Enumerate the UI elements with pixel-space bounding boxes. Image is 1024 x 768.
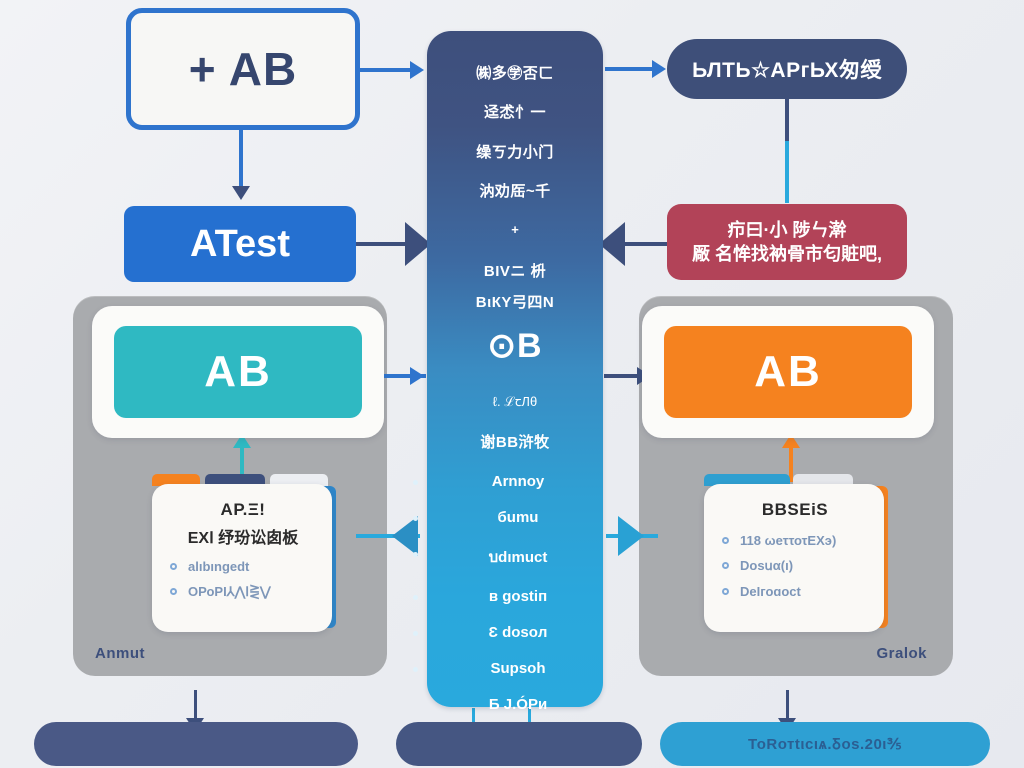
center-bullet-item[interactable]: бumu <box>437 509 593 526</box>
detail-card-left[interactable]: АР.Ξ! ЕХⅠ 纾玢讼囱板 alıbıngedt ОРоРΙ⅄⋀Ⅰ⋛⋁ <box>152 484 332 632</box>
bullet-dot-icon <box>413 631 418 636</box>
center-bullet-item[interactable]: บdımuct <box>437 545 593 569</box>
detail-card-right-title: ВBSЕiS <box>720 500 870 520</box>
group-panel-left-label: Anmut <box>95 645 145 662</box>
node-plus-ab-label: + AB <box>189 42 297 96</box>
node-plus-ab[interactable]: + AB <box>126 8 360 130</box>
ring-bullet-icon <box>722 537 729 544</box>
node-crimson-line-1: 疖曰·小 陟ㄣ澣 <box>728 218 847 242</box>
center-bullet-label: Б J.ÓРи <box>489 696 547 713</box>
chip-orange-label: AB <box>754 347 822 397</box>
detail-card-right-list: 118 ωеττοτЕХэ) Dоѕսα(ı) DеΙгоɑоct <box>720 534 870 599</box>
arrowhead-teal-to-center <box>410 367 424 385</box>
chevron-to-detail-left <box>392 516 418 556</box>
list-item[interactable]: 118 ωеττοτЕХэ) <box>720 534 870 548</box>
detail-card-left-title: АР.Ξ! <box>168 500 318 520</box>
bottom-bar-left[interactable] <box>34 722 358 766</box>
connector-pill-to-crimson-lower <box>785 141 789 203</box>
detail-card-left-list: alıbıngedt ОРоРΙ⅄⋀Ⅰ⋛⋁ <box>168 560 318 600</box>
chip-teal[interactable]: AB <box>114 326 362 418</box>
detail-card-right[interactable]: ВBSЕiS 118 ωеττοτЕХэ) Dоѕսα(ı) DеΙгоɑоct <box>704 484 884 632</box>
center-headline: ⊙В <box>437 326 593 366</box>
node-atest-label: ATest <box>190 223 290 266</box>
ring-bullet-icon <box>170 588 177 595</box>
bullet-dot-icon <box>413 516 418 521</box>
bullet-dot-icon <box>413 667 418 672</box>
bullet-dot-icon <box>413 595 418 600</box>
bottom-bar-right[interactable]: ТоRотtιcιѧ.Ᵹоѕ.20ι⅗ <box>660 722 990 766</box>
list-item-label: Dоѕսα(ı) <box>740 558 793 573</box>
center-bullet-label: Аrnnoy <box>492 473 545 490</box>
chip-teal-label: AB <box>204 347 272 397</box>
center-line-1: ㈱多㊫否ㄈ <box>437 65 593 82</box>
center-line-4: 汭劝厒~千 <box>437 183 593 200</box>
node-atest[interactable]: ATest <box>124 206 356 282</box>
ring-bullet-icon <box>722 588 729 595</box>
center-bullet-item[interactable]: ʙ gostiп <box>437 588 593 605</box>
center-bullet-item[interactable]: Б J.ÓРи <box>437 696 593 713</box>
arrowhead-plusab-to-atest <box>232 186 250 200</box>
chevron-to-detail-right <box>618 516 644 556</box>
ring-bullet-icon <box>722 562 729 569</box>
list-item[interactable]: DеΙгоɑоct <box>720 585 870 599</box>
center-bullet-label: ʙ gostiп <box>489 588 547 605</box>
center-bullet-list: Аrnnoy бumu บdımuct ʙ gostiп Ɛ dosoл Sup… <box>437 473 593 713</box>
card-teal-ab[interactable]: AB <box>92 306 384 438</box>
center-subheading: 谢ВВ浒牧 <box>437 434 593 451</box>
center-line-3: 缲ㄎ力小门 <box>437 144 593 161</box>
connector-plusab-to-atest <box>239 130 243 188</box>
diagram-canvas: Anmut Gralok ㈱多㊫否ㄈ 迳怸忄一 <box>0 0 1024 768</box>
detail-card-left-subtitle: ЕХⅠ 纾玢讼囱板 <box>168 524 318 548</box>
list-item-label: ОРоРΙ⅄⋀Ⅰ⋛⋁ <box>188 584 271 599</box>
list-item-label: alıbıngedt <box>188 559 249 574</box>
list-item-label: DеΙгоɑоct <box>740 584 801 599</box>
center-bullet-item[interactable]: Ɛ dosoл <box>437 624 593 641</box>
group-panel-right-label: Gralok <box>876 645 927 662</box>
bullet-dot-icon <box>413 480 418 485</box>
list-item[interactable]: ОРоРΙ⅄⋀Ⅰ⋛⋁ <box>168 585 318 599</box>
arrowhead-center-to-api-pill <box>652 60 666 78</box>
center-bullet-label: Supsoh <box>491 660 546 677</box>
connector-plusab-to-center <box>360 68 412 72</box>
center-mid-line-1: ВIVニ 枡 <box>437 263 593 280</box>
center-bullet-label: бumu <box>498 509 539 526</box>
bottom-bar-right-label: ТоRотtιcιѧ.Ᵹоѕ.20ι⅗ <box>748 734 902 754</box>
connector-center-to-api-pill <box>605 67 655 71</box>
center-bullet-label: Ɛ dosoл <box>489 624 548 641</box>
center-plus-symbol: + <box>437 222 593 237</box>
node-api-pill[interactable]: ЬЛTЬ☆АРгЬХ匆绶 <box>667 39 907 99</box>
node-crimson-warning[interactable]: 疖曰·小 陟ㄣ澣 厰 名恈找衲骨市匂賍吧, <box>667 204 907 280</box>
list-item[interactable]: Dоѕսα(ı) <box>720 559 870 573</box>
list-item-label: 118 ωеττοτЕХэ) <box>740 533 836 548</box>
node-crimson-line-2: 厰 名恈找衲骨市匂賍吧, <box>692 242 882 266</box>
center-process-column[interactable]: ㈱多㊫否ㄈ 迳怸忄一 缲ㄎ力小门 汭劝厒~千 + ВIVニ 枡 ВιКΥ弓四Ν … <box>427 31 603 707</box>
list-item[interactable]: alıbıngedt <box>168 560 318 574</box>
center-bullet-label: บdımuct <box>489 549 548 566</box>
card-orange-ab[interactable]: AB <box>642 306 934 438</box>
connector-pill-to-crimson <box>785 99 789 141</box>
center-small-note: ℓ. ℒꞇЛθ <box>437 392 593 410</box>
center-mid-line-2: ВιКΥ弓四Ν <box>437 294 593 311</box>
chip-orange[interactable]: AB <box>664 326 912 418</box>
ring-bullet-icon <box>170 563 177 570</box>
node-api-pill-label: ЬЛTЬ☆АРгЬХ匆绶 <box>692 54 882 84</box>
arrowhead-plusab-to-center <box>410 61 424 79</box>
center-line-2: 迳怸忄一 <box>437 104 593 121</box>
center-bullet-item[interactable]: Supsoh <box>437 660 593 677</box>
center-bullet-item[interactable]: Аrnnoy <box>437 473 593 490</box>
bullet-dot-icon <box>413 552 418 557</box>
bottom-bar-center[interactable] <box>396 722 642 766</box>
